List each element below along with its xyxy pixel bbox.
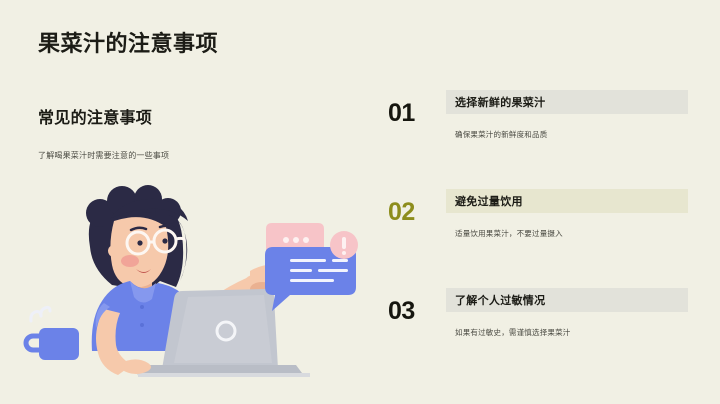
item-title: 了解个人过敏情况 <box>455 292 545 308</box>
section-subtext: 了解喝果菜汁时需要注意的一些事项 <box>38 150 358 161</box>
item-title: 选择新鲜的果菜汁 <box>455 94 545 110</box>
list-item[interactable]: 03 了解个人过敏情况 如果有过敏史，需谨慎选择果菜汁 <box>388 288 688 360</box>
item-title-band: 避免过量饮用 <box>446 189 688 213</box>
item-number: 01 <box>388 90 446 126</box>
notes-list: 01 选择新鲜的果菜汁 确保果菜汁的新鲜度和品质 02 避免过量饮用 适量饮用果… <box>388 90 688 360</box>
list-item[interactable]: 02 避免过量饮用 适量饮用果菜汁，不要过量摄入 <box>388 189 688 261</box>
section-heading: 常见的注意事项 <box>38 104 358 128</box>
item-title-band: 选择新鲜的果菜汁 <box>446 90 688 114</box>
item-title: 避免过量饮用 <box>455 193 523 209</box>
slide-canvas: 果菜汁的注意事项 常见的注意事项 了解喝果菜汁时需要注意的一些事项 <box>0 0 720 404</box>
illustration <box>18 185 362 385</box>
list-item[interactable]: 01 选择新鲜的果菜汁 确保果菜汁的新鲜度和品质 <box>388 90 688 162</box>
illustration-svg <box>18 185 362 385</box>
item-description: 如果有过敏史，需谨慎选择果菜汁 <box>446 327 688 338</box>
item-number: 02 <box>388 189 446 225</box>
item-description: 确保果菜汁的新鲜度和品质 <box>446 129 688 140</box>
eye-left <box>137 240 142 245</box>
notification-badge-icon <box>330 231 358 259</box>
left-panel: 常见的注意事项 了解喝果菜汁时需要注意的一些事项 <box>38 104 358 161</box>
item-body: 了解个人过敏情况 如果有过敏史，需谨慎选择果菜汁 <box>446 288 688 338</box>
cheek-blush <box>121 255 139 267</box>
item-number: 03 <box>388 288 446 324</box>
item-body: 选择新鲜的果菜汁 确保果菜汁的新鲜度和品质 <box>446 90 688 140</box>
page-title: 果菜汁的注意事项 <box>38 26 218 58</box>
item-description: 适量饮用果菜汁，不要过量摄入 <box>446 228 688 239</box>
item-body: 避免过量饮用 适量饮用果菜汁，不要过量摄入 <box>446 189 688 239</box>
item-title-band: 了解个人过敏情况 <box>446 288 688 312</box>
eye-right <box>162 238 167 243</box>
coffee-mug-icon <box>26 307 79 360</box>
